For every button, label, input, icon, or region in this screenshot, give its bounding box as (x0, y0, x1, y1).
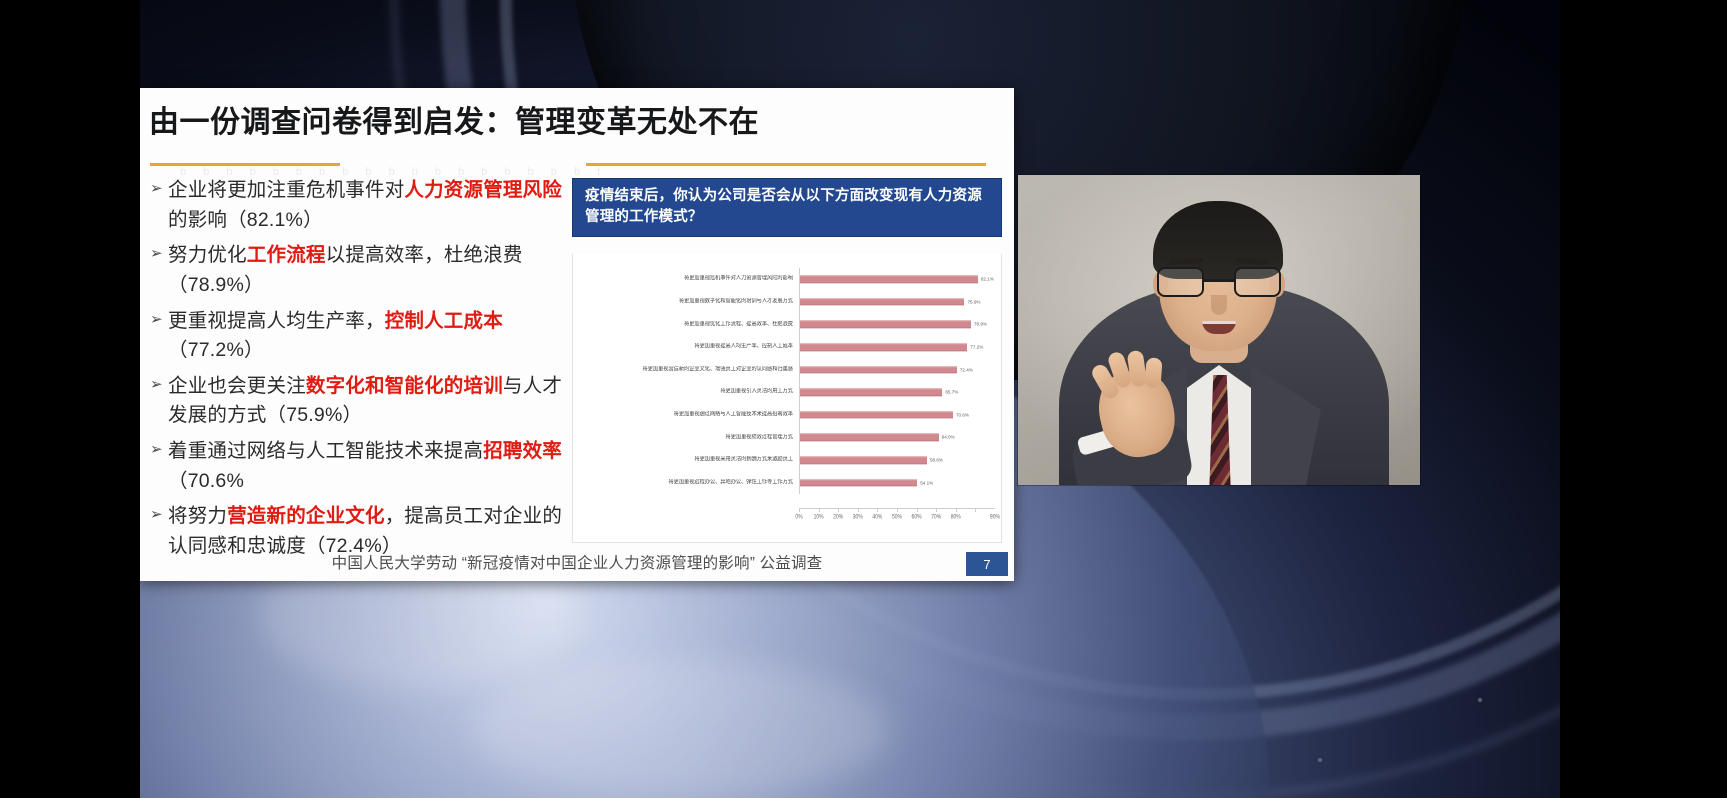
chart-category-label: 将更加重视优化工作流程、提高效率、杜绝浪费 (585, 321, 799, 328)
bullet-text-run: 更重视提高人均生产率， (168, 310, 385, 332)
chart-value-label: 70.6% (956, 412, 969, 417)
bullet-item-4: ➢企业也会更关注数字化和智能化的培训与人才发展的方式（75.9%） (148, 372, 564, 431)
chart-bar (800, 343, 967, 351)
chart-category-label: 将更加重视提高人均生产率、控制人工成本 (585, 344, 799, 351)
chart-x-tick-label: 20% (833, 513, 843, 521)
bullet-text-run: 人力资源管理风险 (404, 179, 562, 201)
bullet-text-run: 控制人工成本 (385, 310, 503, 332)
chart-category-label: 将更加重视绩效过程管理方式 (585, 434, 799, 441)
bullet-text-run: 努力优化 (168, 244, 247, 266)
chart-bar-row: 将更加重视优化工作流程、提高效率、杜绝浪费78.9% (585, 313, 995, 336)
chart-bar-row: 将更加重视提高人均生产率、控制人工成本77.2% (585, 336, 995, 359)
shared-slide[interactable]: 由一份调查问卷得到启发：管理变革无处不在 b b b b b b b b b b… (140, 88, 1014, 581)
chart-value-label: 77.2% (970, 345, 983, 350)
chart-bar (800, 321, 971, 329)
cloud-swirl-2 (470, 660, 890, 798)
chart-bar-row: 将更加重视引入灵活的用工方式65.7% (585, 381, 995, 404)
bullet-arrow-icon: ➢ (150, 374, 163, 397)
screen-share-stage: 由一份调查问卷得到启发：管理变革无处不在 b b b b b b b b b b… (0, 0, 1727, 798)
chart-bar (800, 366, 957, 374)
chart-value-label: 64.0% (942, 435, 955, 440)
bullet-text-run: 工作流程 (247, 244, 326, 266)
chart-value-label: 75.9% (967, 299, 980, 304)
slide-page-number: 7 (966, 552, 1008, 576)
presenter-nose (1211, 295, 1227, 315)
chart-value-label: 72.4% (960, 367, 973, 372)
chart-body: 将更加重视危机事件对人力资源管理风险的影响82.1%将更加重视数字化和智能化的培… (572, 254, 1002, 543)
bullet-text-run: （77.2%） (168, 339, 264, 361)
chart-category-label: 将更加重视采用灵活的薪酬方式来激励员工 (585, 456, 799, 463)
chart-bar-row: 将更加重视营造新的企业文化、增强员工对企业的认同感和归属感72.4% (585, 358, 995, 381)
bullet-arrow-icon: ➢ (150, 439, 163, 462)
bullet-text-run: 企业也会更关注 (168, 375, 306, 397)
chart-bar-track: 77.2% (799, 336, 995, 359)
chart-x-tick-label: 80% (951, 513, 961, 521)
glasses-lens-left (1157, 267, 1204, 297)
chart-rows: 将更加重视危机事件对人力资源管理风险的影响82.1%将更加重视数字化和智能化的培… (585, 268, 995, 506)
chart-category-label: 将更加重视数字化和智能化的培训与人才发展方式 (585, 298, 799, 305)
chart-question-header: 疫情结束后，你认为公司是否会从以下方面改变现有人力资源管理的工作模式？ (572, 178, 1002, 237)
chart-category-label: 将更加重视营造新的企业文化、增强员工对企业的认同感和归属感 (585, 366, 799, 373)
chart-category-label: 将更加重视远程办公、异地办公、弹性工作等工作方式 (585, 479, 799, 486)
bullet-text-run: （70.6% (168, 470, 244, 492)
chart-value-label: 58.6% (930, 458, 943, 463)
slide-title: 由一份调查问卷得到启发：管理变革无处不在 (149, 97, 759, 141)
chart-bar-row: 将更加重视通过网络与人工智能技术来提高招聘效率70.6% (585, 404, 995, 427)
bullet-arrow-icon: ➢ (150, 309, 163, 332)
chart-bar (800, 389, 942, 397)
chart-bar-track: 78.9% (799, 313, 995, 336)
bullet-text-run: 的影响（82.1%） (168, 209, 323, 231)
chart-x-tick-label: 40% (872, 513, 882, 521)
chart-bar (800, 434, 939, 442)
chart-bar-row: 将更加重视数字化和智能化的培训与人才发展方式75.9% (585, 291, 995, 314)
bullet-list: ➢企业将更加注重危机事件对人力资源管理风险的影响（82.1%）➢努力优化工作流程… (148, 176, 564, 568)
bullet-text-run: 招聘效率 (483, 440, 562, 462)
bullet-item-5: ➢着重通过网络与人工智能技术来提高招聘效率（70.6% (148, 437, 564, 496)
chart-x-tick-label: 60% (912, 513, 922, 521)
chart-bar-track: 72.4% (799, 358, 995, 381)
glasses-bridge (1204, 279, 1234, 282)
bullet-text-run: 营造新的企业文化 (227, 505, 385, 527)
presenter-video-tile[interactable] (1018, 175, 1420, 485)
chart-bar-track: 54.1% (799, 471, 995, 494)
chart-bar-track: 82.1% (799, 268, 995, 291)
bullet-text-run: 企业将更加注重危机事件对 (168, 179, 404, 201)
chart-bar-row: 将更加重视危机事件对人力资源管理风险的影响82.1% (585, 268, 995, 291)
chart-x-tick-label: 0% (795, 513, 802, 521)
chart-value-label: 65.7% (945, 390, 958, 395)
chart-bar-track: 70.6% (799, 404, 995, 427)
chart-bar-track: 58.6% (799, 449, 995, 472)
chart-value-label: 82.1% (981, 277, 994, 282)
bullet-text-run: 将努力 (168, 505, 227, 527)
accent-rule-right (586, 163, 986, 166)
chart-value-label: 78.9% (974, 322, 987, 327)
chart-bar (800, 411, 953, 419)
chart-x-tick-label: 10% (814, 513, 824, 521)
chart-category-label: 将更加重视危机事件对人力资源管理风险的影响 (585, 276, 799, 283)
chart-x-tick: 90% (975, 509, 995, 528)
presenter-glasses (1155, 267, 1283, 297)
chart-bar-row: 将更加重视采用灵活的薪酬方式来激励员工58.6% (585, 449, 995, 472)
letterbox-left (0, 0, 140, 798)
chart-category-label: 将更加重视引入灵活的用工方式 (585, 389, 799, 396)
survey-chart-panel: 疫情结束后，你认为公司是否会从以下方面改变现有人力资源管理的工作模式？ 将更加重… (572, 178, 1004, 543)
chart-x-axis: 0%10%20%30%40%50%60%70%80%90% (799, 508, 995, 528)
bullet-arrow-icon: ➢ (150, 178, 163, 201)
bullet-item-1: ➢企业将更加注重危机事件对人力资源管理风险的影响（82.1%） (148, 176, 564, 235)
chart-bar (800, 298, 964, 306)
chart-bar-row: 将更加重视绩效过程管理方式64.0% (585, 426, 995, 449)
bullet-text-run: 着重通过网络与人工智能技术来提高 (168, 440, 483, 462)
chart-bar-track: 64.0% (799, 426, 995, 449)
chart-x-tick-label: 70% (931, 513, 941, 521)
bullet-arrow-icon: ➢ (150, 504, 163, 527)
bullet-item-2: ➢努力优化工作流程以提高效率，杜绝浪费（78.9%） (148, 241, 564, 300)
bullet-text-run: 数字化和智能化的培训 (306, 375, 503, 397)
chart-bar (800, 456, 927, 464)
chart-bar-track: 65.7% (799, 381, 995, 404)
chart-x-tick-label: 30% (853, 513, 863, 521)
slide-source-footer: 中国人民大学劳动 “新冠疫情对中国企业人力资源管理的影响” 公益调查 (140, 551, 1014, 573)
chart-bar-track: 75.9% (799, 291, 995, 314)
chart-bar-row: 将更加重视远程办公、异地办公、弹性工作等工作方式54.1% (585, 471, 995, 494)
bullet-item-3: ➢更重视提高人均生产率，控制人工成本（77.2%） (148, 307, 564, 366)
letterbox-right (1560, 0, 1727, 798)
chart-x-tick: 80% (956, 509, 976, 528)
finger-4 (1144, 357, 1162, 388)
chart-bar (800, 276, 978, 284)
glasses-lens-right (1234, 267, 1281, 297)
bullet-arrow-icon: ➢ (150, 243, 163, 266)
chart-x-tick-label: 90% (990, 513, 1000, 521)
chart-value-label: 54.1% (920, 480, 933, 485)
chart-category-label: 将更加重视通过网络与人工智能技术来提高招聘效率 (585, 411, 799, 418)
chart-x-tick-label: 50% (892, 513, 902, 521)
chart-bar (800, 479, 917, 487)
